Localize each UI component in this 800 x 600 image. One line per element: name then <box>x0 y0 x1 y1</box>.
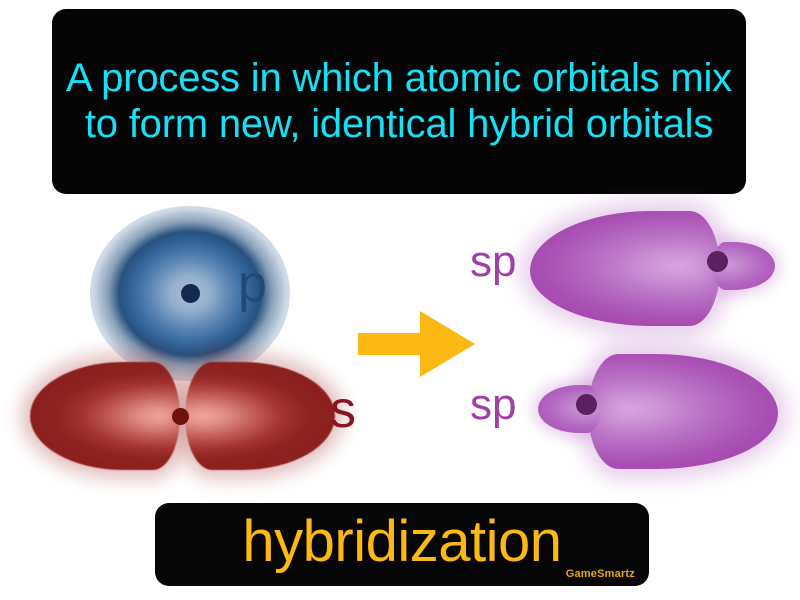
sp-orbital-top-label: sp <box>470 240 516 284</box>
definition-text: A process in which atomic orbitals mix t… <box>52 56 746 146</box>
s-orbital-diagram: s <box>18 356 368 476</box>
s-orbital-label: s <box>330 384 356 436</box>
sp-top-major-lobe-icon <box>530 211 720 326</box>
right-arrow-icon <box>358 309 476 379</box>
s-orbital-nucleus-icon <box>172 408 189 425</box>
definition-card: A process in which atomic orbitals mix t… <box>0 0 800 600</box>
term-banner: hybridization GameSmartz <box>155 503 649 586</box>
sp-bottom-nucleus-icon <box>576 394 597 415</box>
s-orbital-right-lobe-icon <box>185 362 335 470</box>
hybridization-diagram: p s sp sp <box>0 196 800 496</box>
term-title: hybridization <box>155 510 649 575</box>
sp-orbital-bottom-diagram: sp <box>478 351 778 471</box>
p-orbital-label: p <box>238 258 267 310</box>
p-orbital-nucleus-icon <box>181 284 200 303</box>
sp-orbital-bottom-label: sp <box>470 383 516 427</box>
watermark-label: GameSmartz <box>566 568 635 580</box>
p-orbital-diagram: p <box>90 206 290 376</box>
definition-banner: A process in which atomic orbitals mix t… <box>52 9 746 194</box>
sp-bottom-major-lobe-icon <box>588 354 778 469</box>
sp-top-nucleus-icon <box>707 251 728 272</box>
sp-orbital-top-diagram: sp <box>478 208 778 328</box>
s-orbital-left-lobe-icon <box>30 362 180 470</box>
